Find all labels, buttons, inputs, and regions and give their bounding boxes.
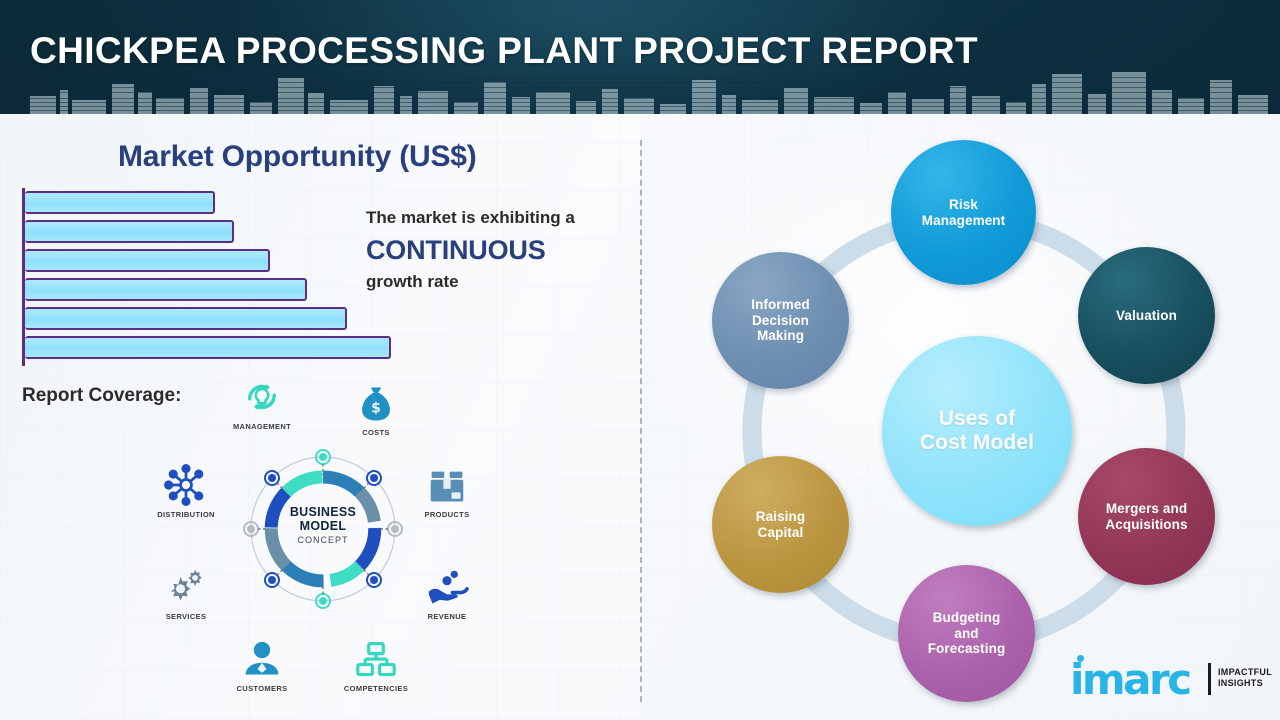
bar-row	[25, 191, 215, 214]
coverage-label-text: PRODUCTS	[401, 510, 493, 519]
svg-text:$: $	[371, 401, 381, 417]
node-line: Management	[916, 213, 1012, 229]
node-line: Mergers and	[1099, 501, 1193, 517]
bar-row	[25, 278, 307, 301]
coverage-label-text: COMPETENCIES	[330, 684, 422, 693]
money-bag-icon: $	[330, 378, 422, 424]
node-line: Forecasting	[922, 641, 1012, 657]
logo-tag-line-2: INSIGHTS	[1218, 678, 1272, 689]
node-line: and	[922, 626, 1012, 642]
business-model-ring: BUSINESS MODEL CONCEPT	[243, 449, 403, 609]
report-coverage-diagram: MANAGEMENT $ COSTS	[140, 372, 505, 698]
node-line: Raising	[750, 509, 811, 525]
hand-coins-icon	[401, 562, 493, 608]
coverage-item-customers: CUSTOMERS	[216, 634, 308, 693]
node-line: Valuation	[1110, 308, 1183, 324]
bm-line-2: MODEL	[243, 519, 403, 533]
pitch-line-2: CONTINUOUS	[366, 231, 634, 269]
business-model-label: BUSINESS MODEL CONCEPT	[243, 505, 403, 545]
coverage-label-text: COSTS	[330, 428, 422, 437]
coverage-label-text: CUSTOMERS	[216, 684, 308, 693]
bar-row	[25, 336, 391, 359]
node-line: Acquisitions	[1099, 517, 1193, 533]
coverage-item-management: MANAGEMENT	[216, 372, 308, 431]
coverage-item-revenue: REVENUE	[401, 562, 493, 621]
org-chart-icon	[330, 634, 422, 680]
logo-divider-bar	[1208, 663, 1211, 695]
bar-row	[25, 249, 270, 272]
node-budgeting-and-forecasting[interactable]: Budgeting and Forecasting	[898, 565, 1035, 702]
node-raising-capital[interactable]: Raising Capital	[712, 456, 849, 593]
coverage-item-costs: $ COSTS	[330, 378, 422, 437]
node-line: Capital	[750, 525, 811, 541]
node-line: Budgeting	[922, 610, 1012, 626]
market-opportunity-bar-chart	[22, 188, 402, 366]
node-uses-of-cost-model[interactable]: Uses of Cost Model	[882, 336, 1072, 526]
coverage-label-text: SERVICES	[140, 612, 232, 621]
page-header: CHICKPEA PROCESSING PLANT PROJECT REPORT	[0, 0, 1280, 114]
center-line-1: Uses of	[914, 407, 1040, 431]
node-risk-management[interactable]: Risk Management	[891, 140, 1036, 285]
bar-row	[25, 307, 347, 330]
coverage-item-distribution: DISTRIBUTION	[140, 460, 232, 519]
node-line: Informed	[745, 297, 816, 313]
bm-line-1: BUSINESS	[243, 505, 403, 519]
pitch-line-3: growth rate	[366, 269, 634, 295]
node-mergers-and-acquisitions[interactable]: Mergers and Acquisitions	[1078, 448, 1215, 585]
gears-icon	[140, 562, 232, 608]
coverage-label-text: MANAGEMENT	[216, 422, 308, 431]
node-line: Risk	[916, 197, 1012, 213]
network-nodes-icon	[140, 460, 232, 506]
uses-of-cost-model-diagram: Informed Decision Making Risk Management…	[660, 114, 1280, 720]
lightbulb-cycle-icon	[216, 372, 308, 418]
market-opportunity-title: Market Opportunity (US$)	[118, 140, 477, 174]
page-title: CHICKPEA PROCESSING PLANT PROJECT REPORT	[30, 30, 978, 72]
center-line-2: Cost Model	[914, 431, 1040, 455]
user-person-icon	[216, 634, 308, 680]
node-line: Making	[745, 328, 816, 344]
panel-divider	[640, 140, 642, 702]
bm-line-3: CONCEPT	[243, 535, 403, 545]
node-line: Decision	[745, 313, 816, 329]
pitch-line-1: The market is exhibiting a	[366, 205, 634, 231]
coverage-item-services: SERVICES	[140, 562, 232, 621]
coverage-item-products: PRODUCTS	[401, 460, 493, 519]
box-package-icon	[401, 460, 493, 506]
coverage-item-competencies: COMPETENCIES	[330, 634, 422, 693]
coverage-label-text: DISTRIBUTION	[140, 510, 232, 519]
growth-pitch: The market is exhibiting a CONTINUOUS gr…	[366, 205, 634, 295]
coverage-label-text: REVENUE	[401, 612, 493, 621]
bar-row	[25, 220, 234, 243]
imarc-logo[interactable]: imarc IMPACTFUL INSIGHTS	[1070, 655, 1266, 703]
node-valuation[interactable]: Valuation	[1078, 247, 1215, 384]
node-informed-decision-making[interactable]: Informed Decision Making	[712, 252, 849, 389]
logo-dot-icon	[1077, 655, 1084, 662]
logo-wordmark: imarc	[1070, 659, 1190, 701]
logo-tagline: IMPACTFUL INSIGHTS	[1218, 667, 1272, 689]
logo-tag-line-1: IMPACTFUL	[1218, 667, 1272, 678]
